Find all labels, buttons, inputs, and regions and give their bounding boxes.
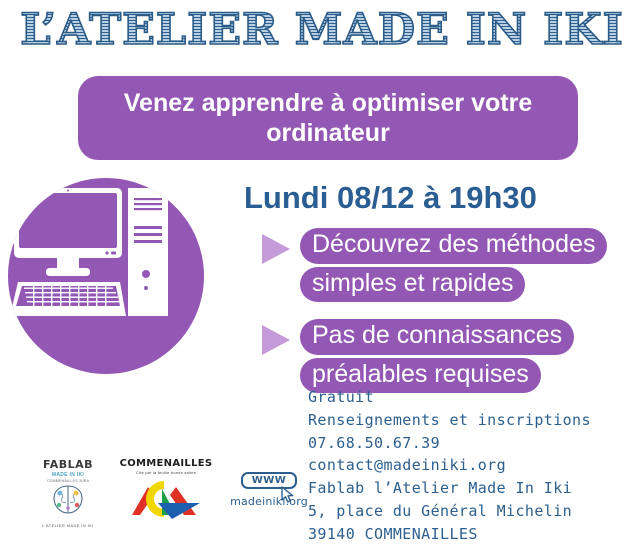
bullet-item-1: Découvrez des méthodes simples et rapide… [262,228,644,305]
logo-commenailles: COMMENAILLES Cité par la feuille bonne s… [118,458,214,528]
bullet-1-line-1: Découvrez des méthodes [300,228,607,264]
event-date: Lundi 08/12 à 19h30 [244,180,537,216]
page-title: L’ATELIER MADE IN IKI [0,8,644,53]
subtitle-banner: Venez apprendre à optimiser votre ordina… [78,76,578,160]
mouse-cursor-icon [280,486,296,504]
commenailles-wordmark: COMMENAILLES [118,458,214,469]
poster-root: L’ATELIER MADE IN IKI L’ATELIER MADE IN … [0,0,644,540]
fablab-wordmark: FABLAB [30,458,106,471]
contact-line-street: 5, place du Général Michelin [308,500,591,523]
website-url[interactable]: madeiniki.org [228,495,310,508]
bullet-item-2: Pas de connaissances préalables requises [262,319,644,396]
arrow-right-icon [262,234,290,264]
fablab-footer-text: L’ATELIER MADE IN IKI [30,523,106,528]
commenailles-emblem-icon [118,475,214,523]
contact-line-org: Fablab l’Atelier Made In Iki [308,477,591,500]
subtitle-banner-text: Venez apprendre à optimiser votre ordina… [100,88,556,149]
desktop-computer-icon [8,178,204,374]
bullet-1-line-2: simples et rapides [300,267,525,303]
contact-line-email[interactable]: contact@madeiniki.org [308,454,591,477]
contact-block: Gratuit Renseignements et inscriptions 0… [308,386,591,546]
arrow-right-icon [262,325,290,355]
contact-line-city: 39140 COMMENAILLES [308,523,591,546]
contact-line-phone[interactable]: 07.68.50.67.39 [308,432,591,455]
website-badge[interactable]: WWW madeiniki.org [228,470,310,526]
illustration-circle [8,178,204,374]
bullet-list: Découvrez des méthodes simples et rapide… [262,228,644,410]
brain-icon [30,483,106,517]
bullet-2-line-1: Pas de connaissances [300,319,574,355]
logo-fablab: FABLAB MADE IN IKI COMMENAILLES JURA L’A… [30,458,106,532]
contact-line-price: Gratuit [308,386,591,409]
fablab-tagline: MADE IN IKI [30,472,106,478]
contact-line-info: Renseignements et inscriptions [308,409,591,432]
